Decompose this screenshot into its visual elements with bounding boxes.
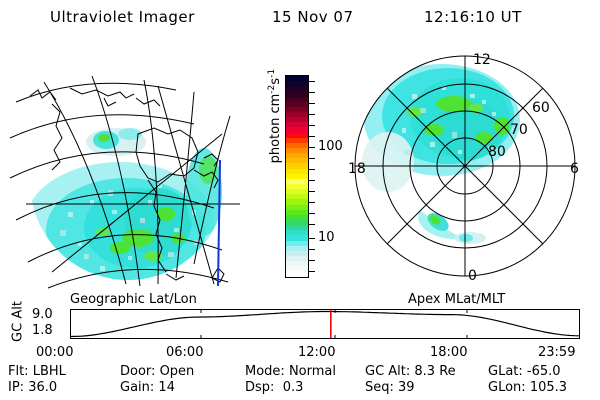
status-readout: Flt: LBHL Door: Open Mode: Normal GC Alt…: [0, 364, 600, 398]
geographic-image-panel[interactable]: [8, 42, 258, 290]
colorbar-tick: [309, 180, 315, 181]
status-glon: GLon: 105.3: [488, 380, 567, 395]
status-mode: Mode: Normal: [245, 364, 336, 379]
altitude-tick-low: 1.8: [32, 323, 53, 338]
colorbar-tick-label-100: 100: [318, 142, 343, 152]
apex-mlat-mlt-panel[interactable]: 12 18 6 0 60 70 80: [342, 42, 592, 290]
colorbar-tick: [309, 158, 315, 159]
altitude-strip: Geographic Lat/Lon Apex MLat/MLT GC Alt …: [0, 292, 600, 344]
time-tick-1: 06:00: [166, 345, 203, 360]
colorbar-axis-title: photon cm-2s-1: [267, 51, 283, 181]
altitude-plot-box[interactable]: [70, 309, 580, 339]
time-tick-3: 18:00: [430, 345, 467, 360]
colorbar-tick: [309, 92, 315, 93]
colorbar-tick-label-10: 10: [318, 233, 335, 243]
mlat-label-80: 80: [488, 144, 506, 160]
mlt-label-0: 0: [468, 268, 477, 284]
cbar-title-tail: s: [268, 78, 283, 85]
colorbar-tick: [309, 249, 315, 250]
mlt-label-18: 18: [348, 161, 366, 177]
status-dsp: Dsp: 0.3: [245, 380, 303, 395]
header-bar: Ultraviolet Imager 15 Nov 07 12:16:10 UT: [0, 8, 600, 32]
cbar-title-exp1: -2: [267, 85, 277, 94]
status-ip: IP: 36.0: [8, 380, 57, 395]
colorbar-tick: [309, 169, 315, 170]
colorbar-tick: [309, 81, 315, 82]
instrument-title: Ultraviolet Imager: [50, 8, 195, 26]
geo-panel-label: Geographic Lat/Lon: [70, 292, 197, 307]
colorbar-tick: [309, 224, 315, 225]
colorbar-tick: [309, 114, 315, 115]
colorbar-tick: [309, 271, 315, 272]
observation-date: 15 Nov 07: [272, 8, 354, 26]
colorbar-axis: 10010: [309, 75, 339, 278]
colorbar-gradient: [285, 75, 309, 278]
time-tick-4: 23:59: [538, 345, 575, 360]
status-flt: Flt: LBHL: [8, 364, 66, 379]
status-gain: Gain: 14: [120, 380, 175, 395]
altitude-axis-label: GC Alt: [11, 294, 26, 350]
mlt-label-12: 12: [473, 52, 491, 68]
mlt-panel-label: Apex MLat/MLT: [408, 292, 505, 307]
colorbar-tick: [309, 238, 315, 239]
colorbar-tick: [309, 103, 315, 104]
mlt-label-6: 6: [570, 161, 579, 177]
observation-time: 12:16:10 UT: [424, 8, 522, 26]
colorbar: 10010 photon cm-2s-1: [262, 60, 340, 290]
colorbar-tick: [309, 136, 315, 137]
mlat-label-70: 70: [510, 122, 528, 138]
polar-grid: [355, 56, 575, 276]
colorbar-tick: [309, 260, 315, 261]
colorbar-tick: [309, 147, 315, 148]
time-tick-0: 00:00: [36, 345, 73, 360]
colorbar-tick: [309, 213, 315, 214]
status-glat: GLat: -65.0: [488, 364, 561, 379]
status-door: Door: Open: [120, 364, 194, 379]
status-seq: Seq: 39: [365, 380, 415, 395]
time-axis: 00:00 06:00 12:00 18:00 23:59: [0, 345, 600, 363]
status-gcalt: GC Alt: 8.3 Re: [365, 364, 456, 379]
cbar-title-main: photon cm: [268, 94, 283, 164]
time-tick-2: 12:00: [298, 345, 335, 360]
altitude-tick-high: 9.0: [32, 307, 53, 322]
altitude-curve: [71, 310, 579, 338]
colorbar-tick: [309, 125, 315, 126]
cbar-title-exp2: -1: [267, 69, 277, 78]
mlat-label-60: 60: [532, 100, 550, 116]
colorbar-tick: [309, 202, 315, 203]
colorbar-tick: [309, 191, 315, 192]
